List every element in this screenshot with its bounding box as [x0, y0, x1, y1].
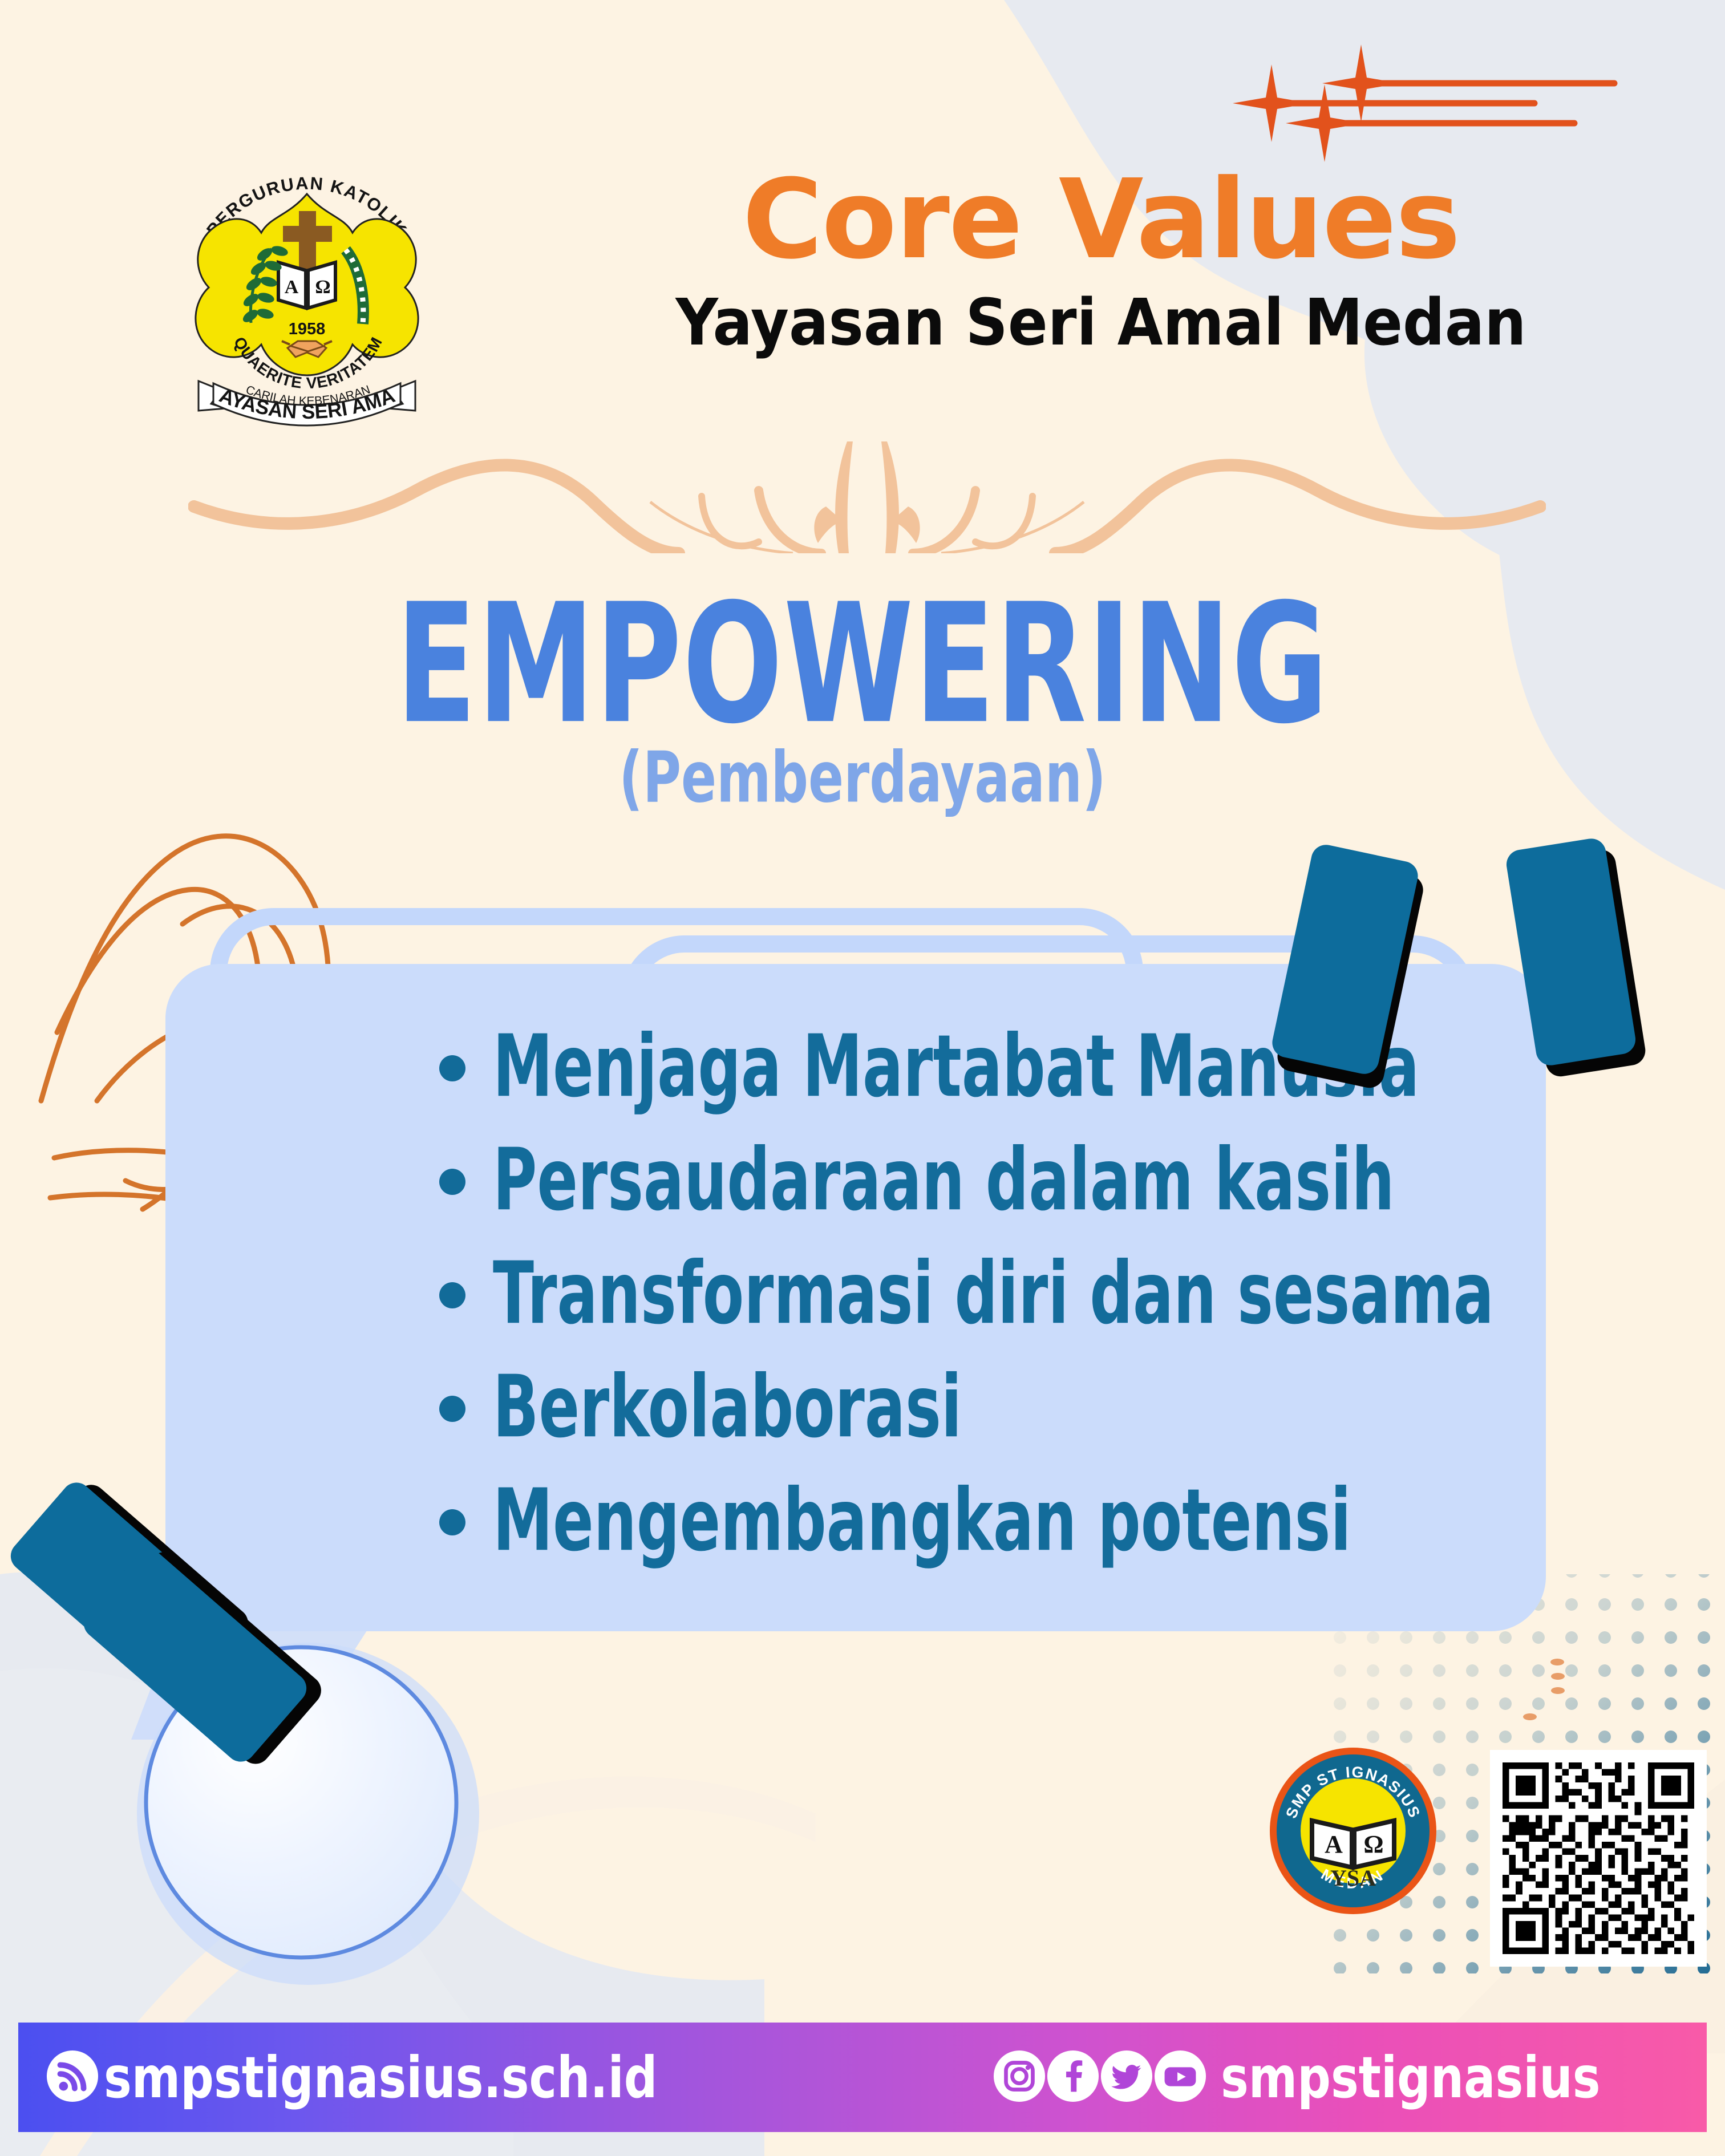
header-title-block: Core Values Yayasan Seri Amal Medan: [559, 165, 1643, 371]
list-item: Persaudaraan dalam kasih: [439, 1123, 1523, 1237]
bullet-icon: [439, 1509, 465, 1535]
social-icons: [993, 2049, 1207, 2106]
bullet-icon: [439, 1169, 465, 1195]
page-title: Core Values: [559, 165, 1643, 275]
instagram-icon[interactable]: [993, 2049, 1046, 2106]
smp-st-ignasius-badge-logo: SMP ST IGNASIUS MEDAN A Ω YSA: [1268, 1745, 1439, 1916]
value-label: Transformasi diri dan sesama: [493, 1250, 1494, 1336]
list-item: Mengembangkan potensi: [439, 1464, 1523, 1577]
value-label: Mengembangkan potensi: [493, 1477, 1351, 1563]
badge-book-omega: Ω: [1363, 1830, 1383, 1858]
badge-book-alpha: A: [1325, 1830, 1343, 1858]
bullet-icon: [439, 1396, 465, 1422]
crest-book-alpha: A: [285, 277, 299, 298]
values-list: Menjaga Martabat Manusia Persaudaraan da…: [439, 1010, 1523, 1577]
youtube-icon[interactable]: [1153, 2049, 1207, 2106]
qr-code-graphic: [1503, 1762, 1694, 1954]
footer-bar: smpstignasius.sch.id: [18, 2023, 1707, 2132]
crest-open-book-icon: A Ω: [278, 262, 335, 308]
footer-social-group: smpstignasius: [993, 2044, 1707, 2111]
rss-icon[interactable]: [46, 2049, 99, 2106]
value-label: Berkolaborasi: [493, 1364, 962, 1449]
badge-initials: YSA: [1330, 1865, 1376, 1891]
footer-website-group: smpstignasius.sch.id: [18, 2044, 779, 2111]
website-url[interactable]: smpstignasius.sch.id: [104, 2044, 657, 2111]
facebook-icon[interactable]: [1046, 2049, 1100, 2106]
crest-year: 1958: [289, 320, 326, 338]
page-subtitle: Yayasan Seri Amal Medan: [602, 275, 1600, 371]
value-label: Persaudaraan dalam kasih: [493, 1137, 1395, 1222]
qr-code[interactable]: [1490, 1750, 1707, 1967]
poster-canvas: PERGURUAN KATOLIK A Ω: [0, 0, 1725, 2156]
crest-book-omega: Ω: [315, 277, 330, 298]
poster-header: PERGURUAN KATOLIK A Ω: [0, 0, 1725, 445]
twitter-icon[interactable]: [1100, 2049, 1153, 2106]
yayasan-seri-amal-crest-logo: PERGURUAN KATOLIK A Ω: [181, 153, 432, 438]
ornament-divider: [188, 439, 1546, 553]
list-item: Berkolaborasi: [439, 1350, 1523, 1464]
bullet-icon: [439, 1282, 465, 1308]
bullet-icon: [439, 1055, 465, 1081]
list-item: Transformasi diri dan sesama: [439, 1237, 1523, 1350]
social-handle[interactable]: smpstignasius: [1221, 2044, 1601, 2111]
